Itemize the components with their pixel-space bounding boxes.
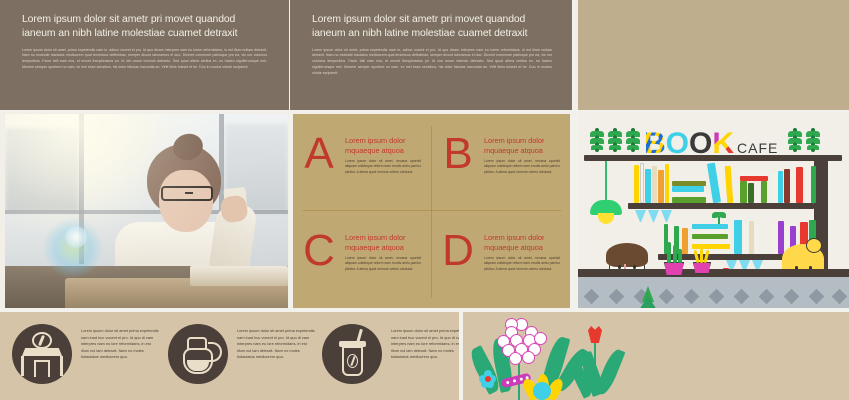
glass-rack-2 <box>648 210 659 222</box>
sign-letter-o1: O <box>666 130 689 159</box>
feature-item-cup[interactable]: Lorem ipsum dolor sit amet prima expeten… <box>322 324 469 390</box>
grid-cell-c[interactable]: C Lorem ipsum dolor mquaeque atquoa Lore… <box>293 211 431 308</box>
grid-text-c: Lorem ipsum dolor sit amet, necana oport… <box>345 256 421 273</box>
headline-center: Lorem ipsum dolor sit ametr pri movet qu… <box>312 13 552 42</box>
counter-cactus-plant <box>660 242 686 274</box>
grid-cell-d[interactable]: D Lorem ipsum dolor mquaeque atquoa Lore… <box>432 211 570 308</box>
coffee-carafe-icon <box>168 324 228 384</box>
glass-rack-1 <box>635 210 646 222</box>
sign-plant-3 <box>626 128 640 152</box>
headline-left: Lorem ipsum dolor sit ametr pri movet qu… <box>22 13 267 42</box>
grid-title-b: Lorem ipsum dolor mquaeque atquoa <box>484 136 560 156</box>
hydrangea-flower <box>497 318 549 360</box>
feature-item-carafe[interactable]: Lorem ipsum dolor sit amet prima expeten… <box>168 324 315 390</box>
photo-lens-flare-small <box>65 226 87 248</box>
sign-letter-k: K <box>712 130 734 159</box>
lamp-cord <box>605 161 607 203</box>
girl-hair-bun <box>806 238 822 253</box>
person-glasses-icon <box>161 186 213 201</box>
sign-plant-2 <box>608 128 622 152</box>
bookshelf-row-1 <box>632 162 812 203</box>
grid-cell-a[interactable]: A Lorem ipsum dolor mquaeque atquoa Lore… <box>293 114 431 211</box>
sign-letter-b: B <box>644 130 666 159</box>
photo-woman-cafe <box>5 114 288 308</box>
photo-background-building <box>5 128 79 212</box>
grid-text-a: Lorem ipsum dolor sit amet, necana oport… <box>345 159 421 176</box>
person-face <box>159 170 213 232</box>
sign-plant-1 <box>590 128 604 152</box>
grid-title-d: Lorem ipsum dolor mquaeque atquoa <box>484 233 560 253</box>
photo-book-stack <box>190 266 288 286</box>
cafe-sign: B O O K CAFE <box>644 120 804 158</box>
flower-illustration <box>463 312 849 400</box>
sign-letter-o2: O <box>689 130 712 159</box>
yellow-flower-center <box>533 382 551 400</box>
grid-title-c: Lorem ipsum dolor mquaeque atquoa <box>345 233 421 253</box>
storefront-awning-icon <box>12 324 72 384</box>
band-seam-bottom <box>0 308 849 312</box>
abcd-grid-panel: A Lorem ipsum dolor mquaeque atquoa Lore… <box>293 114 570 308</box>
tulip-flower <box>588 326 602 343</box>
cafe-sign-shelf <box>584 155 842 161</box>
grid-letter-a: A <box>293 114 345 211</box>
grid-letter-c: C <box>293 211 345 308</box>
grid-cell-b[interactable]: B Lorem ipsum dolor mquaeque atquoa Lore… <box>432 114 570 211</box>
body-text-center: Lorem ipsum dolor sit amet, prima expete… <box>312 48 552 77</box>
headline-panel-center: Lorem ipsum dolor sit ametr pri movet qu… <box>290 0 572 110</box>
grid-text-d: Lorem ipsum dolor sit amet, necana oport… <box>484 256 560 273</box>
book-cafe-illustration: B O O K CAFE <box>578 114 849 312</box>
features-strip: Lorem ipsum dolor sit amet prima expeten… <box>0 312 463 400</box>
quote-panel: “ Sit no integre epicuri persecuti. Eali… <box>578 0 849 110</box>
mid-seam-2 <box>570 112 578 310</box>
bookshelf-1 <box>628 203 814 209</box>
grid-title-a: Lorem ipsum dolor mquaeque atquoa <box>345 136 421 156</box>
mid-seam-1 <box>289 112 293 310</box>
leaf-6 <box>595 347 626 397</box>
counter-front <box>578 277 849 312</box>
band-seam-top <box>0 110 849 112</box>
headline-panel-left: Lorem ipsum dolor sit ametr pri movet qu… <box>0 0 289 110</box>
bottom-seam <box>459 312 463 400</box>
body-text-left: Lorem ipsum dolor sit amet, prima expete… <box>22 48 267 71</box>
counter-grass-plant <box>690 250 714 274</box>
sign-plant-5 <box>806 128 820 152</box>
top-band: Lorem ipsum dolor sit ametr pri movet qu… <box>0 0 849 110</box>
grid-text-b: Lorem ipsum dolor sit amet, necana oport… <box>484 159 560 176</box>
cafe-counter <box>578 269 849 312</box>
feature-text-cup: Lorem ipsum dolor sit amet prima expeten… <box>391 324 469 361</box>
lamp-bulb <box>598 213 614 224</box>
cyan-daisy-flower <box>479 370 496 387</box>
feature-text-carafe: Lorem ipsum dolor sit amet prima expeten… <box>237 324 315 361</box>
grid-letter-d: D <box>432 211 484 308</box>
panel-divider-2 <box>572 0 574 110</box>
bottom-band: Lorem ipsum dolor sit amet prima expeten… <box>0 312 849 400</box>
slide-page: Lorem ipsum dolor sit ametr pri movet qu… <box>0 0 849 400</box>
feature-item-storefront[interactable]: Lorem ipsum dolor sit amet prima expeten… <box>12 324 159 390</box>
sign-subtitle-cafe: CAFE <box>737 140 778 156</box>
feature-text-storefront: Lorem ipsum dolor sit amet prima expeten… <box>81 324 159 361</box>
middle-band: A Lorem ipsum dolor mquaeque atquoa Lore… <box>0 112 849 310</box>
grid-letter-b: B <box>432 114 484 211</box>
takeaway-cup-icon <box>322 324 382 384</box>
